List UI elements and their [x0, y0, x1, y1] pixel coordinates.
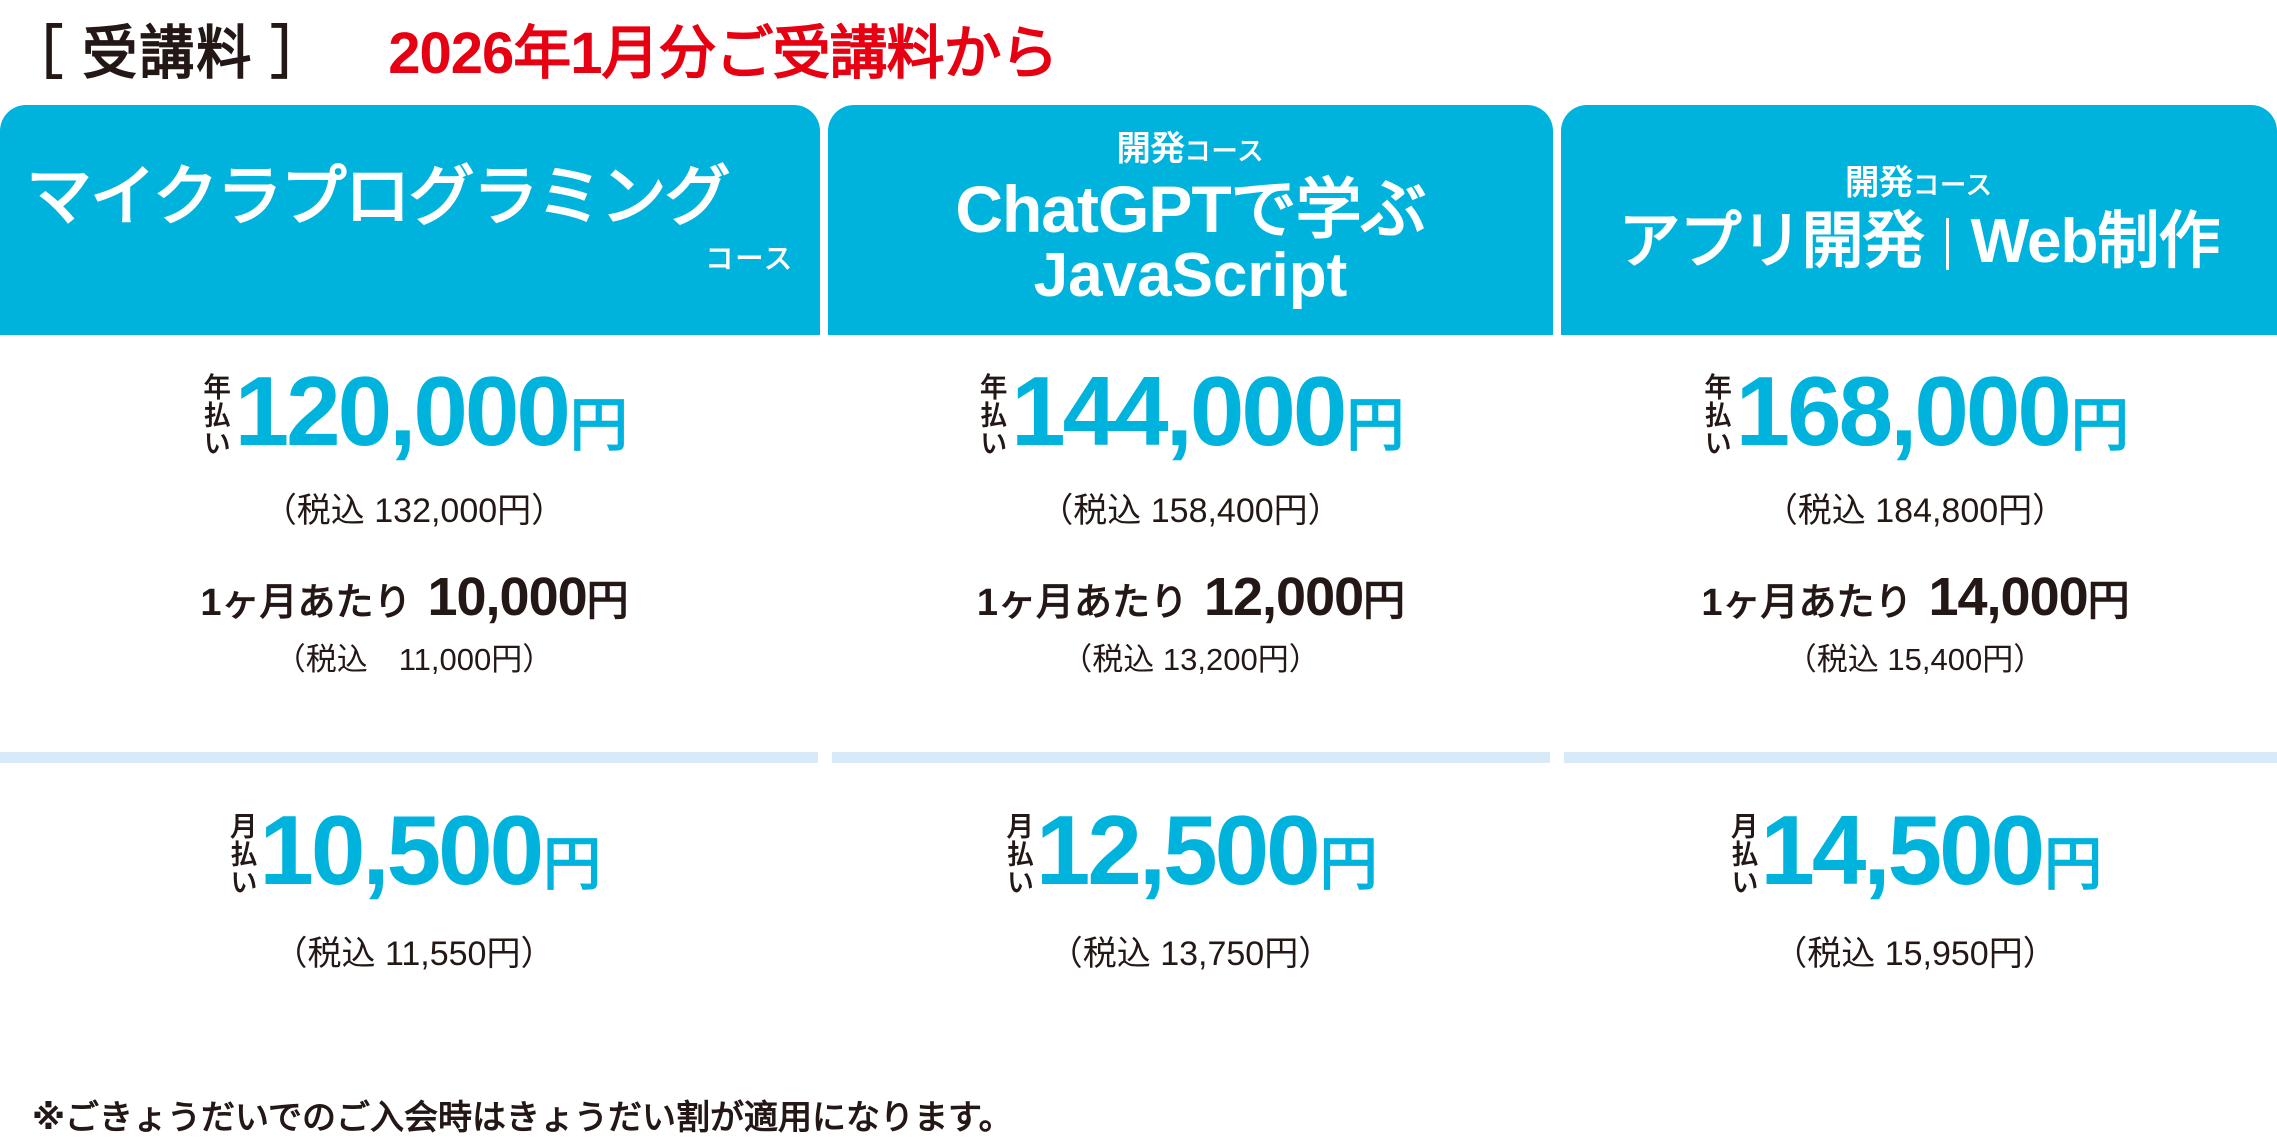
yearly-amount-chatgpt: 144,000円	[1011, 363, 1404, 459]
monthly-amount-app-web: 14,500円	[1760, 802, 2102, 898]
monthly-column-app-web: 月払い 14,500円 （税込 15,950円）	[1553, 790, 2277, 1020]
permonth-amount-unit-minecraft: 円	[587, 577, 628, 624]
permonth-amount-minecraft: 10,000円	[427, 567, 627, 627]
monthly-tax-chatgpt: （税込 13,750円）	[828, 926, 1553, 975]
divider-gap-2	[1550, 752, 1564, 763]
course-title-chatgpt: ChatGPTで学ぶ	[955, 176, 1425, 243]
section-divider	[0, 752, 2277, 763]
course-card-minecraft-inner: マイクラプログラミング コース	[0, 105, 820, 335]
course-card-app-web[interactable]: 開発コース アプリ開発Web制作	[1561, 105, 2277, 335]
monthly-amount-value-chatgpt: 12,500	[1036, 795, 1318, 905]
page-header: ［ 受講料 ］ 2026年1月分ご受講料から	[0, 0, 2277, 95]
permonth-amount-value-minecraft: 10,000	[427, 567, 586, 627]
course-kicker-small-app-web: コース	[1913, 170, 1993, 200]
monthly-column-minecraft: 月払い 10,500円 （税込 11,550円）	[0, 790, 828, 1020]
course-card-row: マイクラプログラミング コース 開発コース ChatGPTで学ぶ JavaScr…	[0, 105, 2277, 335]
divider-segment-2	[832, 752, 1550, 763]
course-card-minecraft[interactable]: マイクラプログラミング コース	[0, 105, 820, 335]
permonth-label-minecraft: 1ヶ月あたり	[200, 582, 411, 624]
yearly-tax-app-web: （税込 184,800円）	[1553, 483, 2277, 532]
permonth-app-web: 1ヶ月あたり14,000円	[1553, 566, 2277, 628]
yearly-price-minecraft: 年払い 120,000円	[0, 363, 828, 477]
monthly-tax-minecraft: （税込 11,550円）	[0, 926, 828, 975]
monthly-amount-unit-chatgpt: 円	[1320, 832, 1378, 897]
yearly-amount-unit-minecraft: 円	[570, 393, 628, 458]
monthly-column-chatgpt: 月払い 12,500円 （税込 13,750円）	[828, 790, 1553, 1020]
price-column-app-web: 年払い 168,000円 （税込 184,800円） 1ヶ月あたり14,000円…	[1553, 335, 2277, 750]
monthly-amount-unit-app-web: 円	[2044, 832, 2102, 897]
permonth-tax-app-web: （税込 15,400円）	[1553, 634, 2277, 679]
course-title-minecraft: マイクラプログラミング	[26, 163, 794, 230]
course-title-app: アプリ開発	[1619, 207, 1924, 276]
yearly-price-app-web: 年払い 168,000円	[1553, 363, 2277, 477]
yearly-price-row: 年払い 120,000円 （税込 132,000円） 1ヶ月あたり10,000円…	[0, 335, 2277, 750]
monthly-label-chatgpt: 月払い	[1003, 812, 1032, 916]
divider-segment-3	[1564, 752, 2277, 763]
course-card-app-web-inner: 開発コース アプリ開発Web制作	[1561, 105, 2277, 335]
yearly-amount-app-web: 168,000円	[1736, 363, 2129, 459]
permonth-amount-chatgpt: 12,000円	[1204, 567, 1404, 627]
permonth-amount-unit-app-web: 円	[2088, 577, 2129, 624]
monthly-price-chatgpt: 月払い 12,500円	[828, 802, 1553, 916]
yearly-label-app-web: 年払い	[1701, 373, 1730, 477]
course-kicker-text-app-web: 開発	[1845, 164, 1913, 202]
course-title-app-web: アプリ開発Web制作	[1619, 210, 2220, 273]
vertical-divider-icon	[1946, 218, 1949, 270]
monthly-price-minecraft: 月払い 10,500円	[0, 802, 828, 916]
permonth-amount-app-web: 14,000円	[1928, 567, 2128, 627]
permonth-label-chatgpt: 1ヶ月あたり	[977, 582, 1188, 624]
permonth-tax-chatgpt: （税込 13,200円）	[828, 634, 1553, 679]
yearly-amount-value-chatgpt: 144,000	[1011, 356, 1344, 466]
permonth-chatgpt: 1ヶ月あたり12,000円	[828, 566, 1553, 628]
course-kicker-app-web: 開発コース	[1845, 166, 1993, 200]
yearly-amount-unit-chatgpt: 円	[1346, 393, 1404, 458]
card-gap-1	[820, 105, 828, 335]
card-gap-2	[1553, 105, 1561, 335]
course-card-chatgpt-javascript-inner: 開発コース ChatGPTで学ぶ JavaScript	[828, 105, 1553, 335]
yearly-label-minecraft: 年払い	[200, 373, 229, 477]
yearly-price-chatgpt: 年払い 144,000円	[828, 363, 1553, 477]
price-column-minecraft: 年払い 120,000円 （税込 132,000円） 1ヶ月あたり10,000円…	[0, 335, 828, 750]
course-title-web: Web制作	[1971, 207, 2220, 276]
monthly-amount-chatgpt: 12,500円	[1036, 802, 1378, 898]
yearly-amount-value-app-web: 168,000	[1736, 356, 2069, 466]
course-suffix-minecraft: コース	[26, 237, 794, 277]
monthly-label-app-web: 月払い	[1728, 812, 1757, 916]
permonth-amount-value-app-web: 14,000	[1928, 567, 2087, 627]
permonth-tax-minecraft: （税込 11,000円）	[0, 634, 828, 679]
monthly-amount-unit-minecraft: 円	[543, 832, 601, 897]
monthly-label-minecraft: 月払い	[227, 812, 256, 916]
yearly-amount-unit-app-web: 円	[2071, 393, 2129, 458]
yearly-label-chatgpt: 年払い	[977, 373, 1006, 477]
yearly-tax-chatgpt: （税込 158,400円）	[828, 483, 1553, 532]
course-kicker-text-chatgpt: 開発	[1117, 130, 1185, 168]
monthly-tax-app-web: （税込 15,950円）	[1553, 926, 2277, 975]
permonth-minecraft: 1ヶ月あたり10,000円	[0, 566, 828, 628]
monthly-amount-value-app-web: 14,500	[1760, 795, 2042, 905]
yearly-amount-value-minecraft: 120,000	[235, 356, 568, 466]
footnote-sibling-discount: ※ごきょうだいでのご入会時はきょうだい割が適用になります。	[32, 1090, 1013, 1139]
monthly-amount-minecraft: 10,500円	[259, 802, 601, 898]
price-column-chatgpt: 年払い 144,000円 （税込 158,400円） 1ヶ月あたり12,000円…	[828, 335, 1553, 750]
permonth-label-app-web: 1ヶ月あたり	[1701, 582, 1912, 624]
course-card-chatgpt-javascript[interactable]: 開発コース ChatGPTで学ぶ JavaScript	[828, 105, 1553, 335]
course-title-chatgpt-line2: JavaScript	[1034, 243, 1348, 308]
permonth-amount-unit-chatgpt: 円	[1363, 577, 1404, 624]
monthly-price-app-web: 月払い 14,500円	[1553, 802, 2277, 916]
divider-gap-1	[818, 752, 832, 763]
course-kicker-chatgpt: 開発コース	[1117, 132, 1265, 166]
effective-date-note: 2026年1月分ご受講料から	[388, 6, 1057, 90]
permonth-amount-value-chatgpt: 12,000	[1204, 567, 1363, 627]
monthly-price-row: 月払い 10,500円 （税込 11,550円） 月払い 12,500円 （税込…	[0, 790, 2277, 1020]
page-title: ［ 受講料 ］	[8, 6, 327, 90]
yearly-tax-minecraft: （税込 132,000円）	[0, 483, 828, 532]
course-kicker-small-chatgpt: コース	[1185, 136, 1265, 166]
yearly-amount-minecraft: 120,000円	[235, 363, 628, 459]
monthly-amount-value-minecraft: 10,500	[259, 795, 541, 905]
divider-segment-1	[0, 752, 818, 763]
